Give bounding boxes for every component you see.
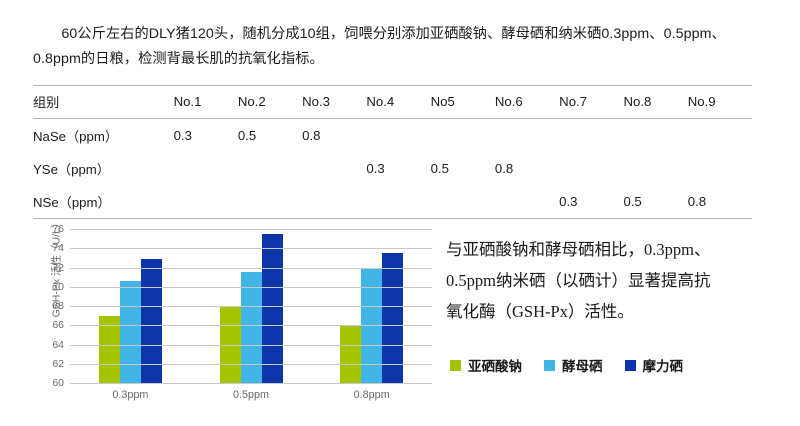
cell-nse-no1 bbox=[174, 185, 238, 219]
conclusion-line-1: 与亚硒酸钠和酵母硒相比，0.3ppm、 bbox=[446, 234, 776, 265]
column-header-no4: No.4 bbox=[366, 86, 430, 119]
chart-gridline: 64 bbox=[70, 345, 432, 346]
column-header-no5: No5 bbox=[431, 86, 495, 119]
chart-gridline: 76 bbox=[70, 229, 432, 230]
cell-nase-no7 bbox=[559, 119, 623, 153]
row-label-yse: YSe（ppm） bbox=[33, 152, 174, 185]
cell-nase-no6 bbox=[495, 119, 559, 153]
chart-gridline: 62 bbox=[70, 364, 432, 365]
legend-swatch-icon bbox=[450, 360, 461, 371]
cell-nase-no5 bbox=[431, 119, 495, 153]
chart-x-tick: 0.3ppm bbox=[70, 389, 191, 401]
cell-nse-no9: 0.8 bbox=[688, 185, 752, 219]
cell-yse-no3 bbox=[302, 152, 366, 185]
chart-bar bbox=[120, 281, 141, 384]
conclusion-line-3: 氧化酶（GSH-Px）活性。 bbox=[446, 296, 776, 327]
column-header-no3: No.3 bbox=[302, 86, 366, 119]
column-header-no1: No.1 bbox=[174, 86, 238, 119]
column-header-group: 组别 bbox=[33, 86, 174, 119]
legend-item[interactable]: 亚硒酸钠 bbox=[450, 355, 522, 375]
cell-yse-no7 bbox=[559, 152, 623, 185]
cell-nase-no2: 0.5 bbox=[238, 119, 302, 153]
chart-y-tick: 64 bbox=[52, 339, 64, 351]
chart-bar bbox=[340, 326, 361, 384]
chart-legend: 亚硒酸钠酵母硒摩力硒 bbox=[450, 355, 683, 375]
cell-yse-no1 bbox=[174, 152, 238, 185]
chart-bar bbox=[141, 259, 162, 384]
cell-nase-no3: 0.8 bbox=[302, 119, 366, 153]
column-header-no7: No.7 bbox=[559, 86, 623, 119]
chart-bar bbox=[241, 272, 262, 384]
chart-bar-groups bbox=[70, 230, 432, 384]
group-dosage-table: 组别 No.1 No.2 No.3 No.4 No5 No.6 No.7 No.… bbox=[33, 85, 752, 219]
table-row: NSe（ppm） 0.3 0.5 0.8 bbox=[33, 185, 752, 219]
chart-y-tick: 74 bbox=[52, 242, 64, 254]
chart-bar-group bbox=[311, 230, 432, 384]
row-label-nase: NaSe（ppm） bbox=[33, 119, 174, 153]
cell-nse-no4 bbox=[366, 185, 430, 219]
legend-label: 酵母硒 bbox=[562, 355, 603, 375]
table-row: NaSe（ppm） 0.3 0.5 0.8 bbox=[33, 119, 752, 153]
gsh-px-bar-chart: GSH-Px 活性（U/L） 606264666870727476 0.3ppm… bbox=[26, 222, 438, 412]
chart-y-tick: 66 bbox=[52, 319, 64, 331]
cell-nse-no3 bbox=[302, 185, 366, 219]
cell-nse-no8: 0.5 bbox=[623, 185, 687, 219]
cell-yse-no8 bbox=[623, 152, 687, 185]
conclusion-line-2: 0.5ppm纳米硒（以硒计）显著提高抗 bbox=[446, 265, 776, 296]
chart-bar bbox=[220, 307, 241, 384]
chart-gridline: 68 bbox=[70, 306, 432, 307]
chart-x-axis-labels: 0.3ppm0.5ppm0.8ppm bbox=[70, 389, 432, 401]
cell-yse-no5: 0.5 bbox=[431, 152, 495, 185]
legend-swatch-icon bbox=[625, 360, 636, 371]
cell-yse-no4: 0.3 bbox=[366, 152, 430, 185]
chart-gridline: 74 bbox=[70, 248, 432, 249]
chart-gridline: 66 bbox=[70, 325, 432, 326]
table-header: 组别 No.1 No.2 No.3 No.4 No5 No.6 No.7 No.… bbox=[33, 86, 752, 119]
intro-paragraph: 60公斤左右的DLY猪120头，随机分成10组，饲喂分别添加亚硒酸钠、酵母硒和纳… bbox=[33, 22, 755, 72]
legend-item[interactable]: 酵母硒 bbox=[544, 355, 603, 375]
cell-nse-no6 bbox=[495, 185, 559, 219]
column-header-no2: No.2 bbox=[238, 86, 302, 119]
cell-yse-no2 bbox=[238, 152, 302, 185]
chart-x-tick: 0.5ppm bbox=[191, 389, 312, 401]
cell-yse-no9 bbox=[688, 152, 752, 185]
chart-gridline: 72 bbox=[70, 268, 432, 269]
legend-swatch-icon bbox=[544, 360, 555, 371]
cell-nse-no2 bbox=[238, 185, 302, 219]
legend-item[interactable]: 摩力硒 bbox=[625, 355, 684, 375]
chart-y-tick: 62 bbox=[52, 358, 64, 370]
cell-nase-no9 bbox=[688, 119, 752, 153]
cell-yse-no6: 0.8 bbox=[495, 152, 559, 185]
cell-nase-no1: 0.3 bbox=[174, 119, 238, 153]
chart-y-tick: 72 bbox=[52, 262, 64, 274]
chart-gridline: 60 bbox=[70, 383, 432, 384]
chart-x-tick: 0.8ppm bbox=[311, 389, 432, 401]
table-row: YSe（ppm） 0.3 0.5 0.8 bbox=[33, 152, 752, 185]
chart-plot-area: 606264666870727476 bbox=[70, 230, 432, 384]
experiment-table: 组别 No.1 No.2 No.3 No.4 No5 No.6 No.7 No.… bbox=[33, 85, 752, 219]
chart-gridline: 70 bbox=[70, 287, 432, 288]
chart-y-tick: 60 bbox=[52, 377, 64, 389]
cell-nase-no8 bbox=[623, 119, 687, 153]
legend-label: 摩力硒 bbox=[643, 355, 684, 375]
table-body: NaSe（ppm） 0.3 0.5 0.8 YSe（ppm） 0.3 0.5 0… bbox=[33, 119, 752, 219]
cell-nse-no7: 0.3 bbox=[559, 185, 623, 219]
chart-bar-group bbox=[191, 230, 312, 384]
conclusion-text: 与亚硒酸钠和酵母硒相比，0.3ppm、 0.5ppm纳米硒（以硒计）显著提高抗 … bbox=[446, 234, 776, 327]
column-header-no6: No.6 bbox=[495, 86, 559, 119]
cell-nase-no4 bbox=[366, 119, 430, 153]
chart-y-tick: 68 bbox=[52, 300, 64, 312]
column-header-no9: No.9 bbox=[688, 86, 752, 119]
legend-label: 亚硒酸钠 bbox=[468, 355, 522, 375]
cell-nse-no5 bbox=[431, 185, 495, 219]
table-header-row: 组别 No.1 No.2 No.3 No.4 No5 No.6 No.7 No.… bbox=[33, 86, 752, 119]
chart-y-tick: 70 bbox=[52, 281, 64, 293]
chart-y-tick: 76 bbox=[52, 223, 64, 235]
chart-bar-group bbox=[70, 230, 191, 384]
column-header-no8: No.8 bbox=[623, 86, 687, 119]
chart-bar bbox=[262, 234, 283, 384]
